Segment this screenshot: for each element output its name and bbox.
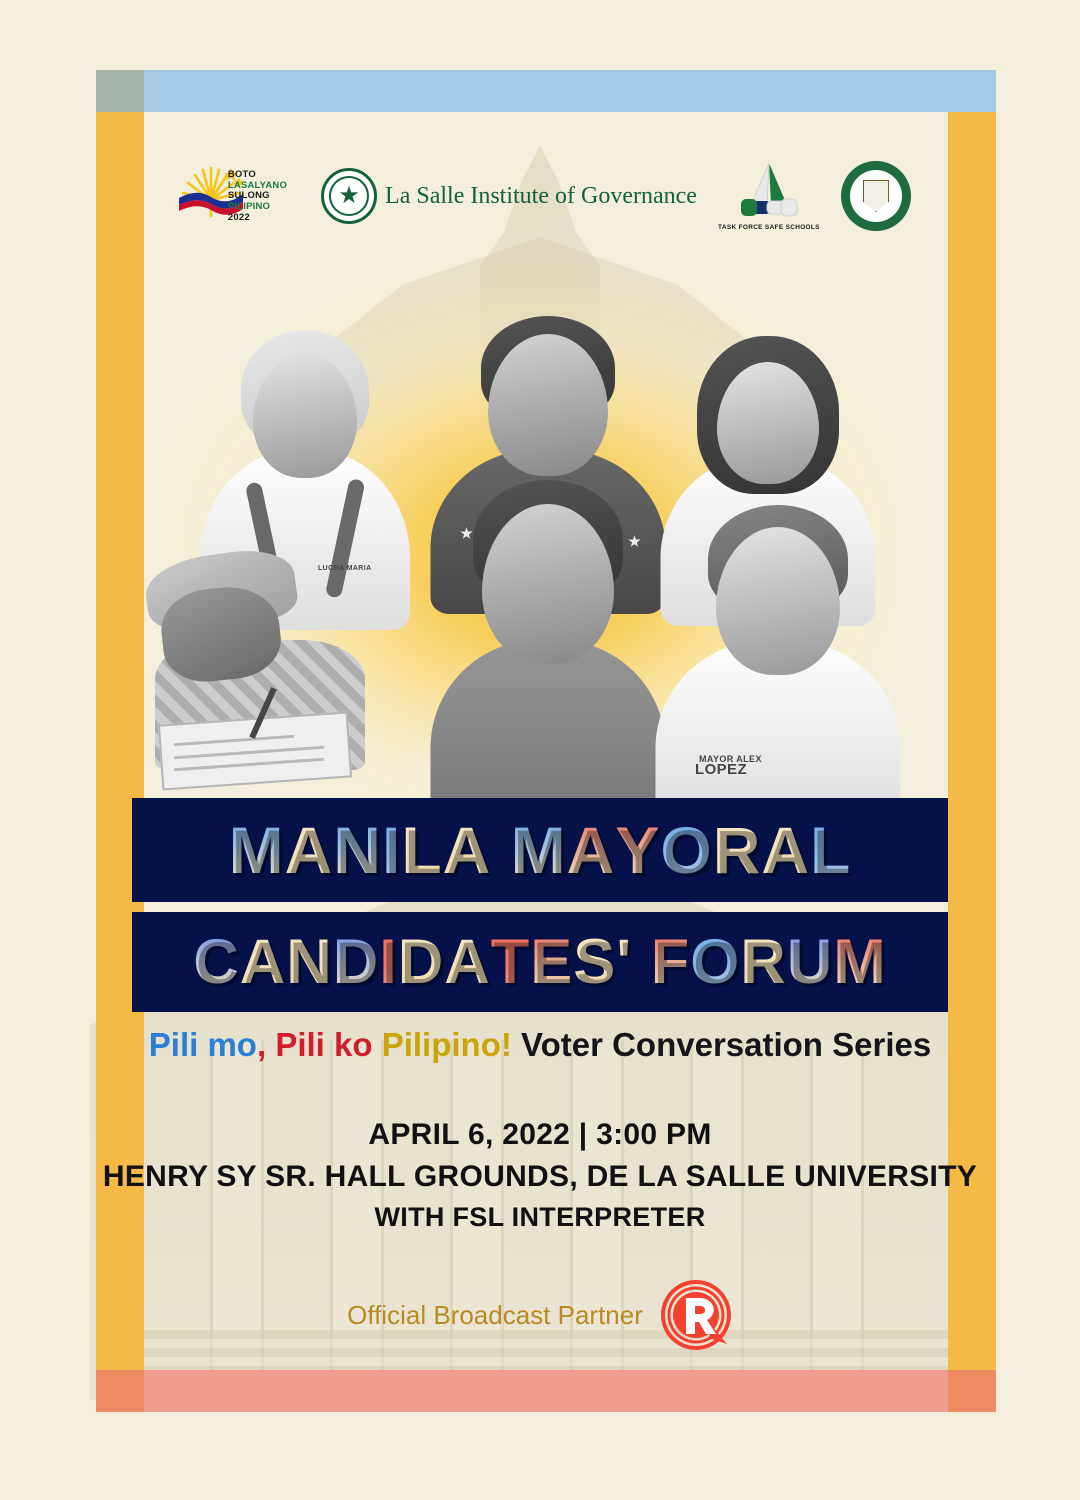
headline-letter: M <box>229 812 285 888</box>
headline-letter: M <box>511 812 567 888</box>
headline-letter: O <box>690 926 740 998</box>
broadcast-partner-section: Official Broadcast Partner <box>0 1278 1080 1352</box>
headline-text-line2: CANDIDATES' FORUM <box>193 926 887 998</box>
tagline-part-series: Voter Conversation Series <box>512 1026 931 1063</box>
headline-bar-line2: CANDIDATES' FORUM <box>132 912 948 1012</box>
tagline: Pili mo, Pili ko Pilipino! Voter Convers… <box>0 1026 1080 1064</box>
headline-letter: E <box>530 926 573 998</box>
headline-letter: A <box>240 926 287 998</box>
partner-logo-row: BOTO LASALYANO SULONG PILIPINO 2022 ★ La… <box>0 160 1080 232</box>
dlsu-seal-icon: ★ <box>321 168 377 224</box>
de-la-salle-santiago-zobel-logo <box>841 161 911 231</box>
event-poster: LUCHA MARIA LM <box>0 0 1080 1500</box>
frame-bar-top <box>96 70 996 112</box>
headline-letter <box>491 812 510 888</box>
tagline-comma: , <box>257 1026 275 1063</box>
la-salle-institute-of-governance-logo: ★ La Salle Institute of Governance <box>321 168 697 224</box>
candidate-photo-alex-lopez: MAYOR ALEX LOPEZ <box>655 505 900 820</box>
headline-letter: A <box>443 812 492 888</box>
headline-bar-line1: MANILA MAYORAL <box>132 798 948 902</box>
candidate-photo-collage: LUCHA MARIA LM <box>140 300 940 820</box>
task-force-caption: TASK FORCE SAFE SCHOOLS <box>718 224 820 231</box>
candidate-photo-center <box>430 480 665 820</box>
broadcast-partner-label: Official Broadcast Partner <box>347 1300 643 1331</box>
tagline-part-pilipino: Pilipino! <box>382 1026 512 1063</box>
linked-arms-icon: TASK FORCE SAFE SCHOOLS <box>731 161 807 231</box>
headline-letter: M <box>833 926 886 998</box>
task-force-safe-schools-logo: TASK FORCE SAFE SCHOOLS <box>731 161 807 231</box>
headline-letter <box>632 926 651 998</box>
frame-bar-bottom <box>96 1370 996 1412</box>
event-accessibility-note: WITH FSL INTERPRETER <box>0 1202 1080 1233</box>
headline-letter: A <box>444 926 491 998</box>
headline-letter: S <box>573 926 616 998</box>
headline-letter: L <box>810 812 851 888</box>
headline-letter: N <box>286 926 333 998</box>
headline-letter: L <box>401 812 442 888</box>
event-details: APRIL 6, 2022 | 3:00 PM HENRY SY SR. HAL… <box>0 1118 1080 1233</box>
headline-letter: A <box>285 812 334 888</box>
headline-letter: F <box>651 926 690 998</box>
frame-corner-bottom-right <box>948 1370 996 1412</box>
headline-letter: R <box>740 926 787 998</box>
headline-letter: ' <box>616 926 632 998</box>
headline-letter: I <box>379 926 398 998</box>
headline-letter: N <box>333 812 382 888</box>
boto-lasalyano-wordmark: BOTO LASALYANO SULONG PILIPINO 2022 <box>228 170 287 223</box>
candidate-photo-voter <box>140 530 380 770</box>
headline-letter: T <box>491 926 530 998</box>
headline-text-line1: MANILA MAYORAL <box>229 812 852 888</box>
headline-letter: D <box>333 926 380 998</box>
dlsz-seal-icon <box>841 161 911 231</box>
headline-letter: U <box>787 926 834 998</box>
frame-corner-bottom-left <box>96 1370 144 1412</box>
rappler-logo <box>659 1278 733 1352</box>
boto-lasalyano-logo: BOTO LASALYANO SULONG PILIPINO 2022 <box>169 160 287 232</box>
headline-letter: I <box>382 812 401 888</box>
event-date-time: APRIL 6, 2022 | 3:00 PM <box>0 1118 1080 1152</box>
headline-letter: A <box>761 812 810 888</box>
tagline-part-pili-ko: Pili ko <box>275 1026 381 1063</box>
event-venue: HENRY SY SR. HALL GROUNDS, DE LA SALLE U… <box>0 1160 1080 1194</box>
headline-letter: D <box>398 926 445 998</box>
tagline-part-pili-mo: Pili mo <box>149 1026 257 1063</box>
headline-letter: O <box>660 812 712 888</box>
lsig-wordmark: La Salle Institute of Governance <box>385 183 697 210</box>
headline-letter: A <box>567 812 616 888</box>
headline-letter: R <box>713 812 762 888</box>
headline-letter: C <box>193 926 240 998</box>
frame-corner-top-left <box>96 70 144 112</box>
headline-letter: Y <box>615 812 660 888</box>
